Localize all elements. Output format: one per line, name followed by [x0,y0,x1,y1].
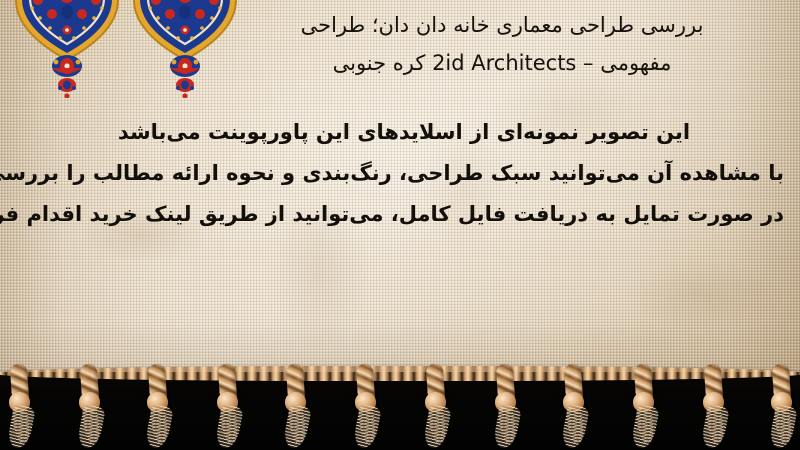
title-line-1: بررسی طراحی معماری خانه دان دان؛ طراحی [222,6,782,44]
fringe-tassel [626,362,660,448]
fringe-tassel [556,362,590,448]
fringe-tassel [696,362,730,448]
body-line-1: این تصویر نمونه‌ای از اسلایدهای این پاور… [14,112,784,153]
body-line-3: در صورت تمایل به دریافت فایل کامل، می‌تو… [14,194,784,235]
fringe-tassel [210,362,244,448]
slide-title: بررسی طراحی معماری خانه دان دان؛ طراحی م… [222,6,782,82]
fringe-tassel [278,362,312,448]
carpet-fringe [0,362,800,450]
body-line-2: با مشاهده آن می‌توانید سبک طراحی، رنگ‌بن… [14,153,784,194]
fringe-tassel [348,362,382,448]
fringe-tassel [72,362,106,448]
slide-body: این تصویر نمونه‌ای از اسلایدهای این پاور… [14,112,784,235]
fringe-tassel [488,362,522,448]
fringe-tassel [2,362,36,448]
fringe-tassel [764,362,798,448]
slide-canvas: بررسی طراحی معماری خانه دان دان؛ طراحی م… [0,0,800,450]
persian-medallion-left-icon [8,0,126,98]
title-line-2: مفهومی – 2id Architects کره جنوبی [222,44,782,82]
fringe-tassel [140,362,174,448]
fringe-tassel [418,362,452,448]
